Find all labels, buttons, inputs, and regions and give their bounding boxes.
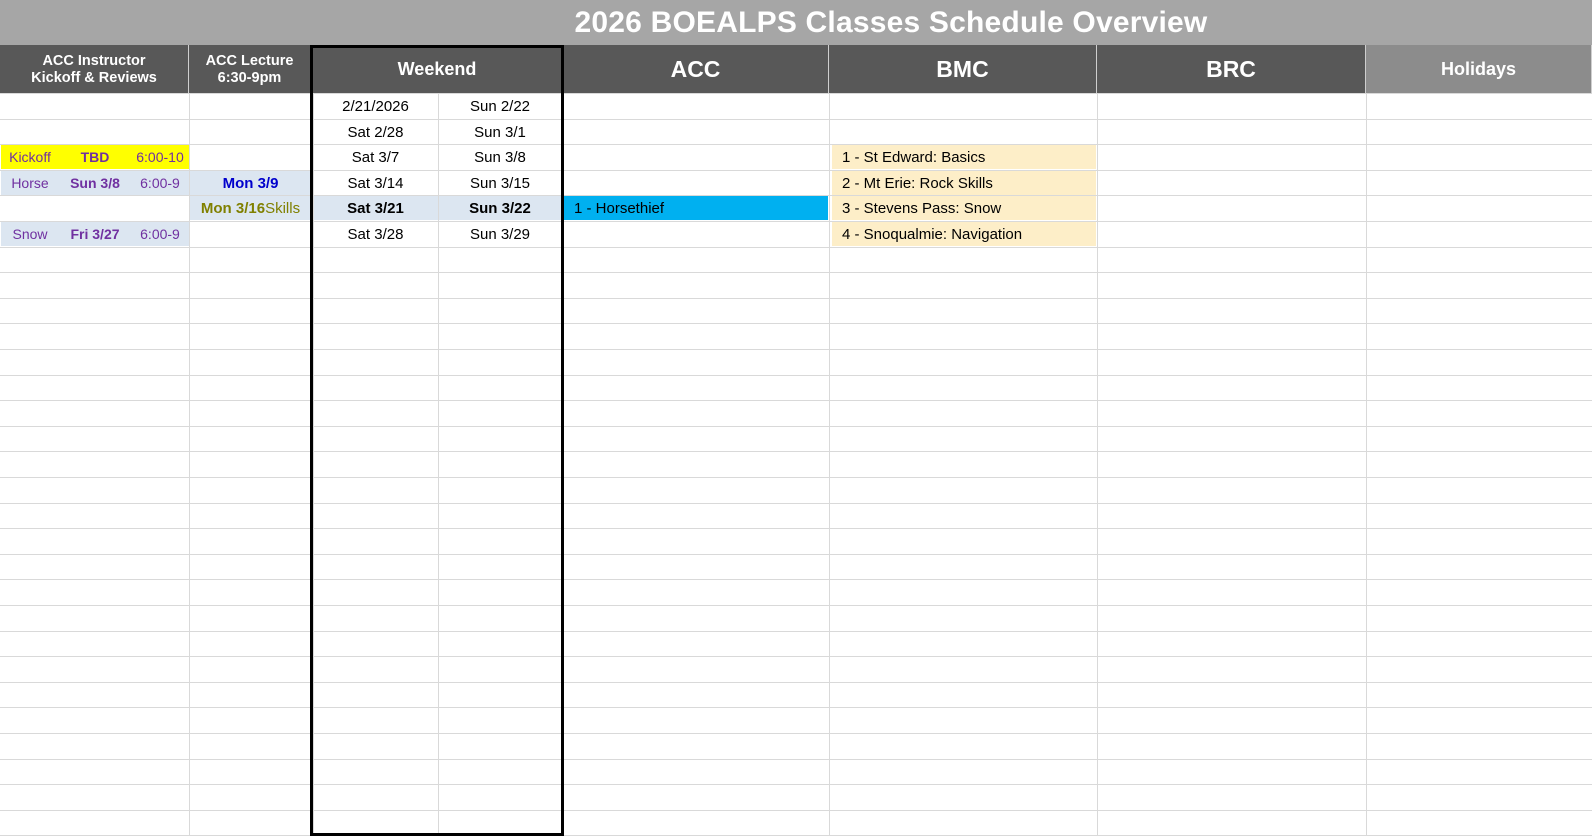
grid-row-line — [0, 144, 1592, 145]
instructor-event-time: 6:00-10 — [131, 149, 189, 165]
grid-row-line — [0, 682, 1592, 683]
page-title: 2026 BOEALPS Classes Schedule Overview — [190, 0, 1592, 45]
header-label-primary: ACC Lecture — [206, 53, 294, 69]
grid-row-line — [0, 503, 1592, 504]
grid-row-line — [0, 477, 1592, 478]
header-label-primary: BRC — [1206, 56, 1256, 82]
instructor-event-label: Horse — [1, 175, 59, 191]
column-header-brc[interactable]: BRC — [1097, 45, 1366, 94]
instructor-event-label: Snow — [1, 226, 59, 242]
instructor-event-time: 6:00-9 — [131, 175, 189, 191]
header-label-primary: Weekend — [398, 59, 477, 79]
bmc-class-entry[interactable]: 3 - Stevens Pass: Snow — [832, 196, 1096, 220]
instructor-event-label: Kickoff — [1, 149, 59, 165]
grid-row-line — [0, 247, 1592, 248]
grid-row-line — [0, 93, 1592, 94]
weekend-saturday-cell[interactable]: Sat 3/21 — [313, 196, 438, 220]
bmc-class-entry[interactable]: 1 - St Edward: Basics — [832, 145, 1096, 169]
grid-row-line — [0, 707, 1592, 708]
grid-row-line — [0, 323, 1592, 324]
lecture-note: Skills — [265, 200, 300, 217]
column-header-weekend[interactable]: Weekend — [313, 45, 562, 94]
instructor-event-date: Fri 3/27 — [59, 226, 131, 242]
grid-column-line — [1097, 94, 1098, 835]
grid-row-line — [0, 426, 1592, 427]
weekend-sunday-cell[interactable]: Sun 3/22 — [438, 196, 562, 220]
bmc-class-entry[interactable]: 4 - Snoqualmie: Navigation — [832, 222, 1096, 246]
weekend-sunday-cell[interactable]: Sun 3/29 — [438, 222, 562, 246]
grid-column-line — [1366, 94, 1367, 835]
grid-column-line — [829, 94, 830, 835]
grid-row-line — [0, 733, 1592, 734]
header-label-primary: BMC — [936, 56, 988, 82]
header-label-primary: ACC Instructor — [42, 53, 145, 69]
grid-row-line — [0, 554, 1592, 555]
instructor-event-cell[interactable]: HorseSun 3/86:00-9 — [1, 171, 189, 195]
grid-row-line — [0, 528, 1592, 529]
column-header-acc-lecture[interactable]: ACC Lecture6:30-9pm — [189, 45, 311, 94]
instructor-event-cell[interactable]: SnowFri 3/276:00-9 — [1, 222, 189, 246]
schedule-spreadsheet: 2026 BOEALPS Classes Schedule Overview A… — [0, 0, 1592, 836]
column-header-holidays[interactable]: Holidays — [1366, 45, 1592, 94]
weekend-saturday-cell[interactable]: Sat 3/14 — [313, 171, 438, 195]
weekend-saturday-cell[interactable]: Sat 3/7 — [313, 145, 438, 169]
acc-class-entry[interactable]: 1 - Horsethief — [564, 196, 828, 220]
grid-row-line — [0, 631, 1592, 632]
instructor-event-date: Sun 3/8 — [59, 175, 131, 191]
bmc-class-entry[interactable]: 2 - Mt Erie: Rock Skills — [832, 171, 1096, 195]
column-header-acc-instructor[interactable]: ACC InstructorKickoff & Reviews — [0, 45, 189, 94]
header-label-primary: ACC — [671, 56, 721, 82]
column-header-bmc[interactable]: BMC — [829, 45, 1097, 94]
lecture-date: Mon 3/16 — [201, 200, 265, 217]
instructor-event-cell[interactable]: KickoffTBD6:00-10 — [1, 145, 189, 169]
header-label-secondary: Kickoff & Reviews — [31, 70, 157, 86]
grid-row-line — [0, 298, 1592, 299]
grid-row-line — [0, 784, 1592, 785]
instructor-event-time: 6:00-9 — [131, 226, 189, 242]
grid-row-line — [0, 759, 1592, 760]
acc-lecture-cell[interactable]: Mon 3/9 — [190, 171, 311, 195]
weekend-saturday-cell[interactable]: Sat 2/28 — [313, 120, 438, 144]
grid-row-line — [0, 119, 1592, 120]
grid-row-line — [0, 605, 1592, 606]
weekend-sunday-cell[interactable]: Sun 2/22 — [438, 94, 562, 118]
weekend-sunday-cell[interactable]: Sun 3/15 — [438, 171, 562, 195]
grid-row-line — [0, 272, 1592, 273]
weekend-sunday-cell[interactable]: Sun 3/1 — [438, 120, 562, 144]
grid-row-line — [0, 221, 1592, 222]
header-label-secondary: 6:30-9pm — [206, 70, 294, 86]
acc-lecture-cell[interactable]: Mon 3/16 Skills — [190, 196, 311, 220]
grid-row-line — [0, 375, 1592, 376]
header-label-primary: Holidays — [1441, 59, 1516, 79]
grid-row-line — [0, 656, 1592, 657]
weekend-saturday-cell[interactable]: Sat 3/28 — [313, 222, 438, 246]
instructor-event-date: TBD — [59, 149, 131, 165]
grid-row-line — [0, 349, 1592, 350]
grid-row-line — [0, 579, 1592, 580]
grid-row-line — [0, 810, 1592, 811]
weekend-sunday-cell[interactable]: Sun 3/8 — [438, 145, 562, 169]
column-header-acc[interactable]: ACC — [563, 45, 829, 94]
grid-row-line — [0, 451, 1592, 452]
weekend-saturday-cell[interactable]: 2/21/2026 — [313, 94, 438, 118]
grid-row-line — [0, 400, 1592, 401]
